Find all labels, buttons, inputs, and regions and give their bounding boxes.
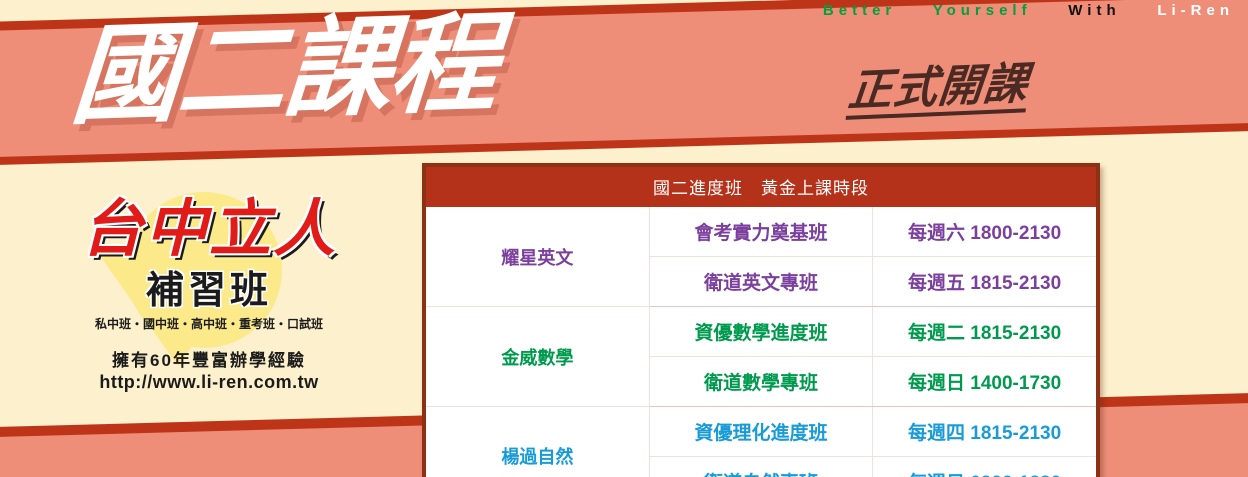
table-header-row: 國二進度班 黃金上課時段 — [426, 167, 1096, 207]
cell-time: 每週日 0900-1230 — [873, 457, 1096, 477]
table-row[interactable]: 耀星英文 會考實力奠基班 每週六 1800-2130 — [426, 207, 1096, 257]
logo-website-url[interactable]: http://www.li-ren.com.tw — [34, 372, 384, 393]
schedule-table-title: 國二進度班 黃金上課時段 — [426, 167, 1096, 207]
cell-time: 每週四 1815-2130 — [873, 407, 1096, 457]
logo-experience-text: 擁有60年豐富辦學經驗 — [34, 346, 384, 371]
table-row[interactable]: 金威數學 資優數學進度班 每週二 1815-2130 — [426, 307, 1096, 357]
cell-subject: 金威數學 — [426, 307, 649, 407]
logo-class-categories: 私中班・國中班・高中班・重考班・口試班 — [34, 315, 384, 332]
cell-course: 會考實力奠基班 — [649, 207, 872, 257]
cell-time: 每週日 1400-1730 — [873, 357, 1096, 407]
schedule-table-body: 耀星英文 會考實力奠基班 每週六 1800-2130 衛道英文專班 每週五 18… — [426, 207, 1096, 477]
cell-subject: 楊過自然 — [426, 407, 649, 477]
tagline-word-liren: Li-Ren — [1157, 2, 1234, 19]
tagline-word-yourself: Yourself — [933, 2, 1032, 19]
tagline-word-better: Better — [823, 2, 896, 19]
cell-course: 資優理化進度班 — [649, 407, 872, 457]
schedule-table: 國二進度班 黃金上課時段 耀星英文 會考實力奠基班 每週六 1800-2130 … — [426, 167, 1096, 477]
promo-banner: Better Yourself With Li-Ren 國二課程 正式開課 台中… — [0, 0, 1248, 477]
cell-subject: 耀星英文 — [426, 207, 649, 307]
cell-course: 資優數學進度班 — [649, 307, 872, 357]
cell-course: 衛道數學專班 — [649, 357, 872, 407]
school-logo: 台中立人 補習班 私中班・國中班・高中班・重考班・口試班 擁有60年豐富辦學經驗… — [34, 196, 384, 393]
headline-title: 國二課程 — [68, 9, 500, 131]
logo-main-text: 台中立人 — [34, 196, 384, 261]
cell-time: 每週五 1815-2130 — [873, 257, 1096, 307]
headline-subtitle: 正式開課 — [846, 62, 1031, 120]
logo-sub-text: 補習班 — [34, 259, 384, 314]
table-row[interactable]: 楊過自然 資優理化進度班 每週四 1815-2130 — [426, 407, 1096, 457]
cell-course: 衛道英文專班 — [649, 257, 872, 307]
cell-time: 每週六 1800-2130 — [873, 207, 1096, 257]
cell-time: 每週二 1815-2130 — [873, 307, 1096, 357]
tagline-word-with: With — [1068, 2, 1120, 19]
schedule-table-container: 國二進度班 黃金上課時段 耀星英文 會考實力奠基班 每週六 1800-2130 … — [422, 163, 1100, 477]
cell-course: 衛道自然專班 — [649, 457, 872, 477]
